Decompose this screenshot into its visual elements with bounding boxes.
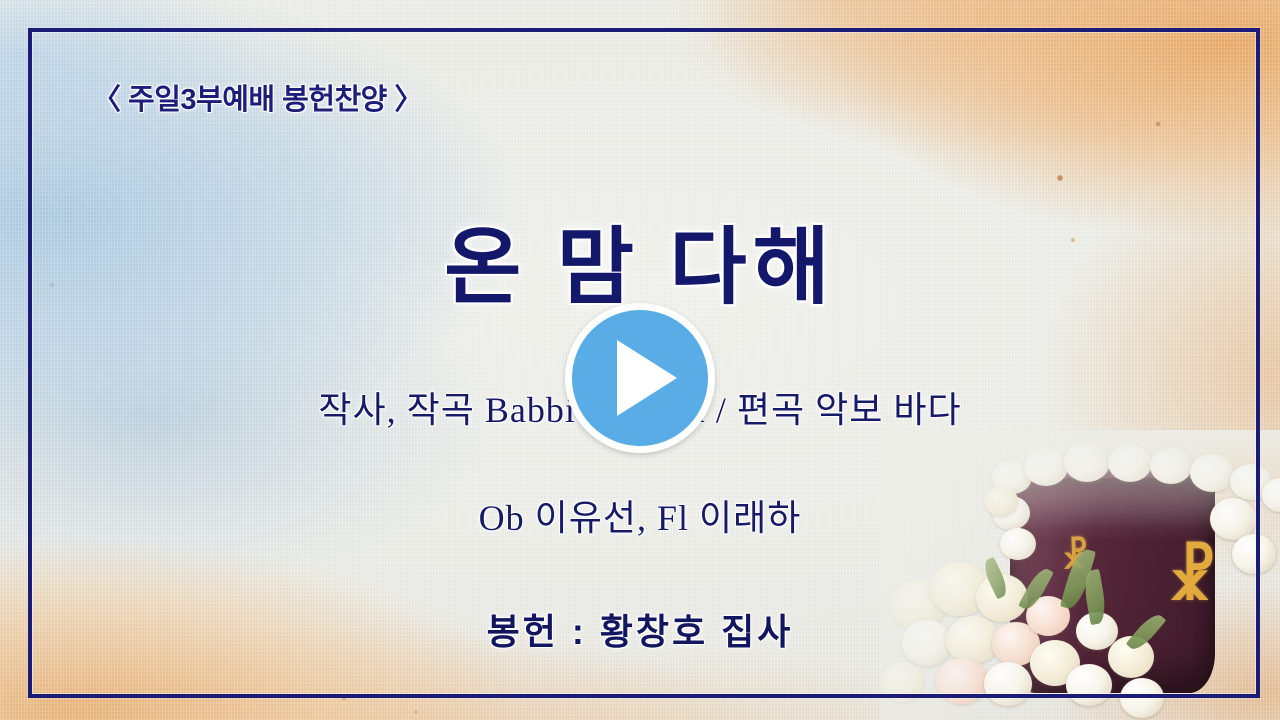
program-label: 〈 주일3부예배 봉헌찬양 〉 [92, 76, 423, 118]
play-button[interactable] [565, 303, 715, 453]
credit-performers: Ob 이유선, Fl 이래하 [0, 489, 1280, 541]
credit-offering: 봉헌 : 황창호 집사 [0, 603, 1280, 655]
video-slide: ☧ ☧ [0, 0, 1280, 720]
play-triangle-icon [617, 340, 677, 416]
